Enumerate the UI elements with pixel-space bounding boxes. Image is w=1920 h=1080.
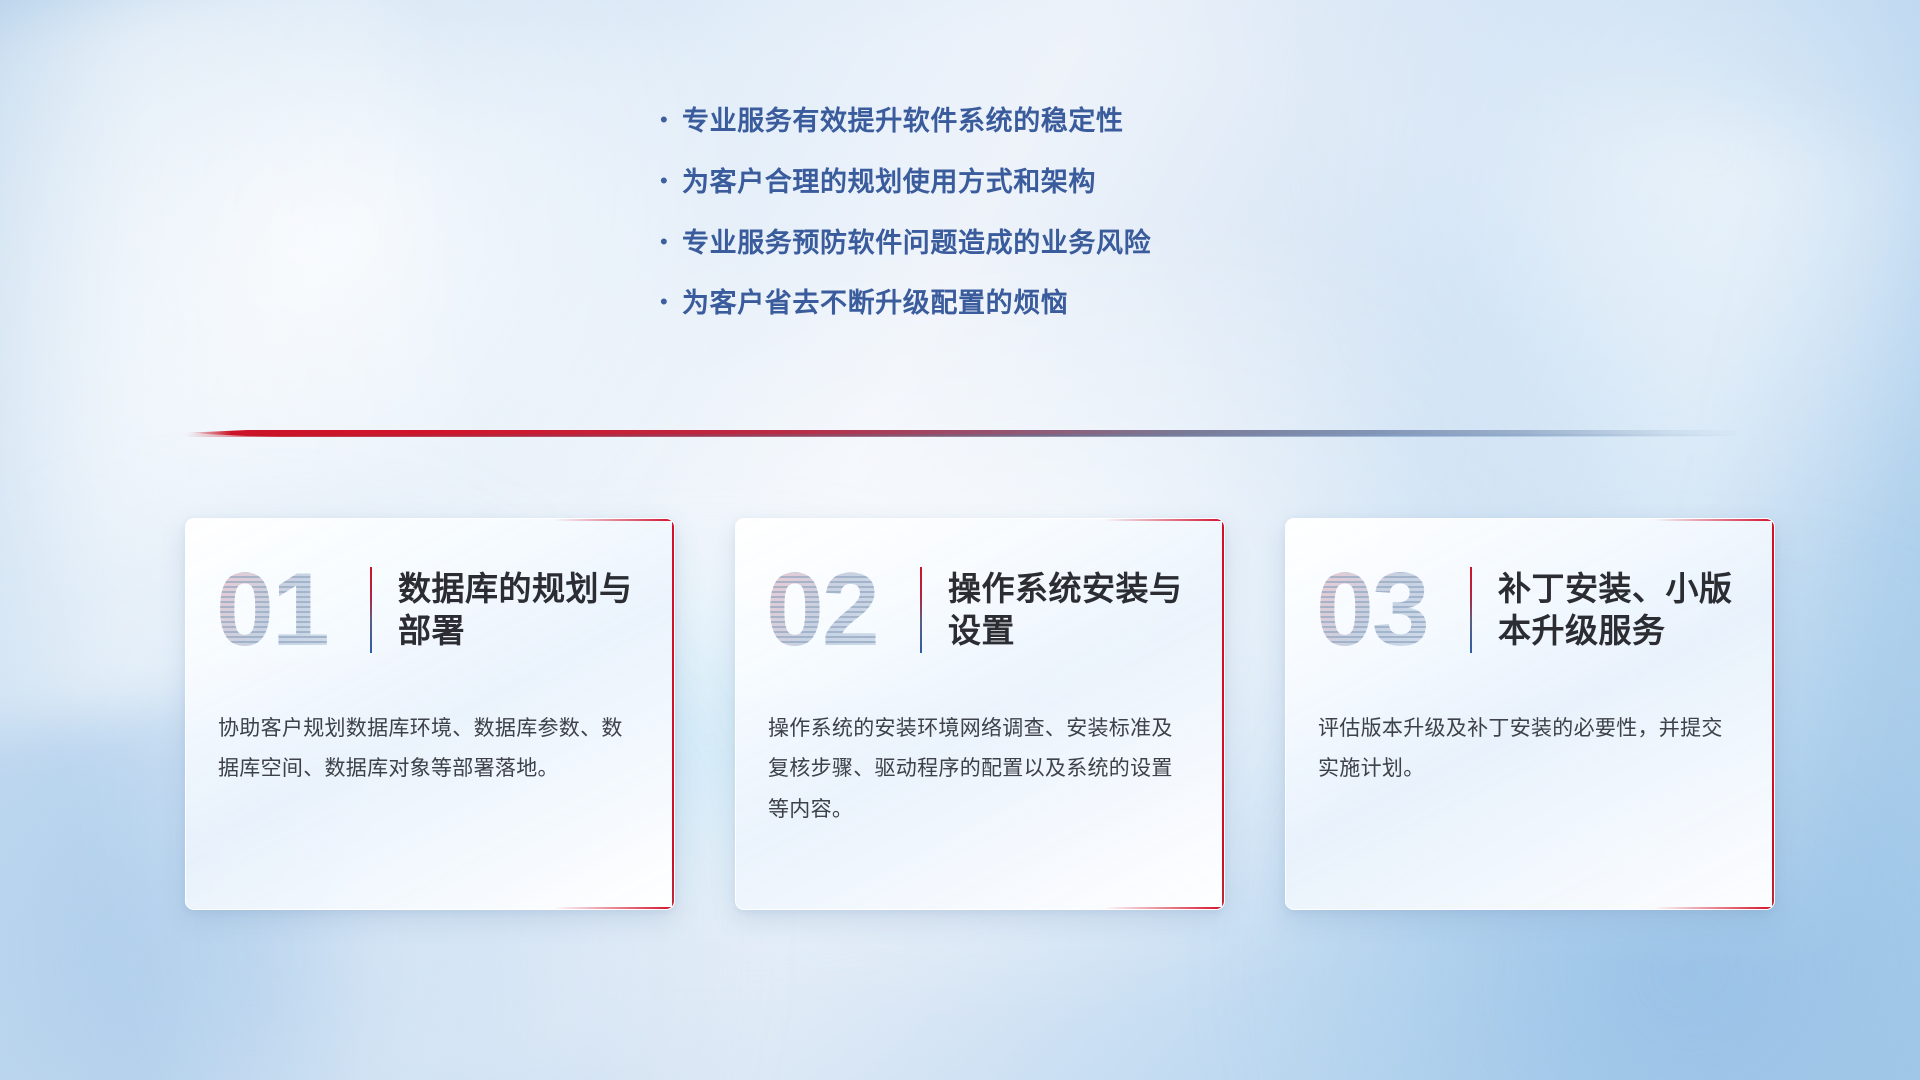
card-body-text: 操作系统的安装环境网络调查、安装标准及复核步骤、驱动程序的配置以及系统的设置等内… <box>768 709 1190 830</box>
bullet-marker-icon: • <box>660 170 682 192</box>
card-accent-bottom <box>1654 907 1774 909</box>
card-accent-top <box>1104 519 1224 521</box>
card-header: 03 补丁安装、小版本升级服务 <box>1316 547 1746 673</box>
service-card[interactable]: 03 补丁安装、小版本升级服务 评估版本升级及补丁安装的必要性，并提交实施计划。 <box>1285 518 1775 910</box>
card-number: 02 <box>766 551 914 669</box>
card-title-rule <box>370 567 372 653</box>
bullet-text: 为客户省去不断升级配置的烦恼 <box>682 287 1068 321</box>
card-accent-bar <box>672 519 674 909</box>
card-title-rule <box>1470 567 1472 653</box>
card-title: 数据库的规划与部署 <box>398 568 646 651</box>
card-header: 02 操作系统安装与设置 <box>766 547 1196 673</box>
bullet-item: • 专业服务预防软件问题造成的业务风险 <box>660 227 1420 261</box>
bullet-item: • 为客户省去不断升级配置的烦恼 <box>660 287 1420 321</box>
card-accent-bottom <box>1104 907 1224 909</box>
card-accent-bottom <box>554 907 674 909</box>
bullet-item: • 专业服务有效提升软件系统的稳定性 <box>660 105 1420 139</box>
card-title: 操作系统安装与设置 <box>948 568 1196 651</box>
divider-highlight-line <box>185 434 1745 437</box>
card-accent-top <box>1654 519 1774 521</box>
card-accent-bar <box>1222 519 1224 909</box>
card-body-text: 评估版本升级及补丁安装的必要性，并提交实施计划。 <box>1318 709 1740 790</box>
service-card[interactable]: 02 操作系统安装与设置 操作系统的安装环境网络调查、安装标准及复核步骤、驱动程… <box>735 518 1225 910</box>
bullet-marker-icon: • <box>660 231 682 253</box>
bullet-text: 为客户合理的规划使用方式和架构 <box>682 166 1096 200</box>
card-header: 01 数据库的规划与部署 <box>216 547 646 673</box>
section-divider <box>185 426 1745 440</box>
card-title-rule <box>920 567 922 653</box>
bullet-marker-icon: • <box>660 291 682 313</box>
service-card[interactable]: 01 数据库的规划与部署 协助客户规划数据库环境、数据库参数、数据库空间、数据库… <box>185 518 675 910</box>
card-body-text: 协助客户规划数据库环境、数据库参数、数据库空间、数据库对象等部署落地。 <box>218 709 640 790</box>
card-number: 01 <box>216 551 364 669</box>
card-title: 补丁安装、小版本升级服务 <box>1498 568 1746 651</box>
card-accent-top <box>554 519 674 521</box>
card-accent-bar <box>1772 519 1774 909</box>
benefits-bullet-list: • 专业服务有效提升软件系统的稳定性 • 为客户合理的规划使用方式和架构 • 专… <box>660 105 1420 348</box>
service-cards-row: 01 数据库的规划与部署 协助客户规划数据库环境、数据库参数、数据库空间、数据库… <box>0 518 1920 928</box>
bullet-item: • 为客户合理的规划使用方式和架构 <box>660 166 1420 200</box>
bullet-text: 专业服务预防软件问题造成的业务风险 <box>682 227 1151 261</box>
card-number: 03 <box>1316 551 1464 669</box>
bullet-marker-icon: • <box>660 109 682 131</box>
bullet-text: 专业服务有效提升软件系统的稳定性 <box>682 105 1124 139</box>
